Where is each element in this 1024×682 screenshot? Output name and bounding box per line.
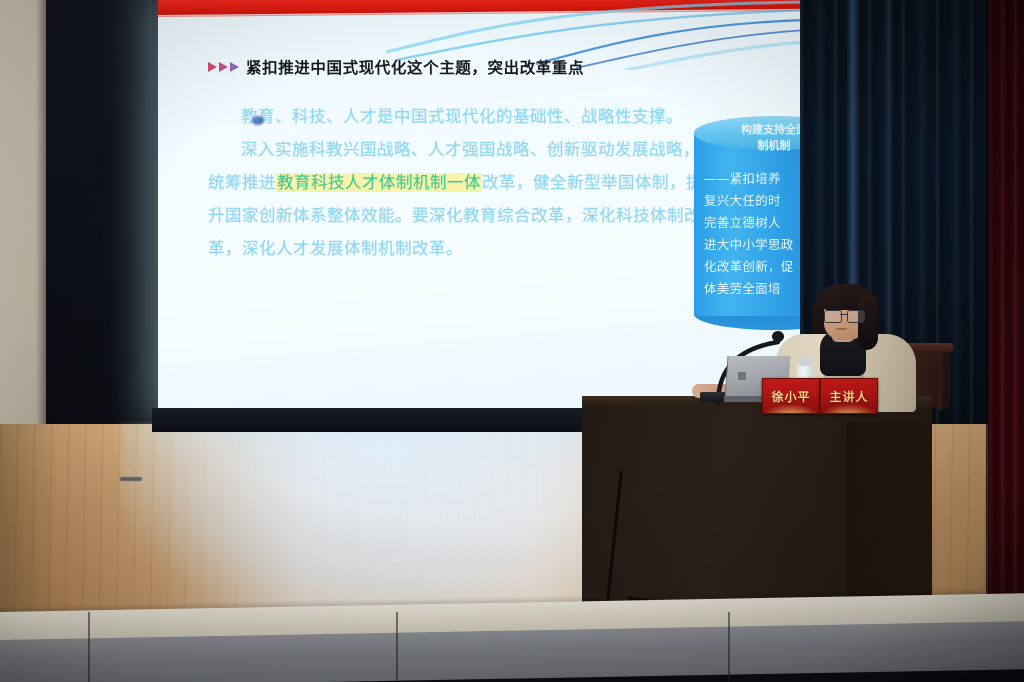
slide-paragraph-1: 教育、科技、人才是中国式现代化的基础性、战略性支撑。 [208,100,708,133]
para2-highlight: 教育科技人才体制机制一体 [276,173,482,192]
cylinder-title: 构建支持全面 制机制 [694,122,806,154]
nameplate-speaker-name: 徐小平 [762,378,820,414]
projector-floor-glow [120,424,640,614]
laptop-logo [738,372,746,380]
lecture-hall-photo: 紧扣推进中国式现代化这个主题，突出改革重点 教育、科技、人才是中国式现代化的基础… [0,0,1024,682]
slide-paragraph-2: 深入实施科教兴国战略、人才强国战略、创新驱动发展战略，统筹推进教育科技人才体制机… [208,133,708,265]
microphone-head [772,331,784,342]
cylinder-line-1: ——紧扣培养 [704,168,806,190]
red-stage-curtain [988,0,1024,660]
red-curtain-edge [986,0,991,660]
floor-debris [120,477,142,481]
chair-leg [938,352,947,410]
blue-smudge-artifact [252,116,264,125]
cylinder-title-line-1: 构建支持全面 [694,122,806,138]
cylinder-line-5: 化改革创新，促 [704,256,806,278]
water-bottle-cap [799,358,811,366]
cylinder-body-text: ——紧扣培养 复兴大任的时 完善立德树人 进大中小学思政 化改革创新，促 体美劳… [704,168,806,300]
slide-heading: 紧扣推进中国式现代化这个主题，突出改革重点 [208,56,584,78]
slide-heading-text: 紧扣推进中国式现代化这个主题，突出改革重点 [246,56,584,78]
chevron-arrows-icon [208,62,239,72]
cylinder-line-4: 进大中小学思政 [704,234,806,256]
nameplate-name-text: 徐小平 [771,388,810,405]
nameplate-role-text: 主讲人 [829,388,868,405]
stage-panel-seam [728,612,730,682]
eyeglasses-icon [824,310,866,321]
mouth [836,328,847,330]
slide-body-text: 教育、科技、人才是中国式现代化的基础性、战略性支撑。 深入实施科教兴国战略、人才… [208,100,708,265]
cylinder-line-2: 复兴大任的时 [704,190,806,212]
cylinder-line-3: 完善立德树人 [704,212,806,234]
cylinder-title-line-2: 制机制 [694,138,806,154]
left-dark-panel [46,0,158,432]
stage-panel-seam [396,612,398,682]
nameplate-speaker-role: 主讲人 [820,378,878,414]
projection-screen: 紧扣推进中国式现代化这个主题，突出改革重点 教育、科技、人才是中国式现代化的基础… [158,0,806,415]
microphone-base [700,392,726,402]
stage-panel-seam [88,612,90,682]
